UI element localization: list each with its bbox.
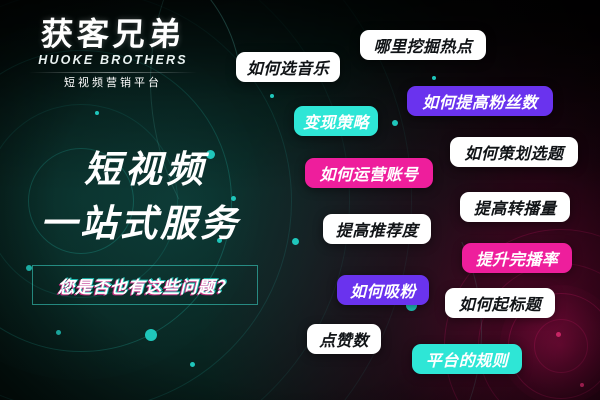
brand-name-en: HUOKE BROTHERS [28, 54, 198, 67]
tag-8[interactable]: 提高推荐度 [323, 214, 431, 244]
tag-label: 如何运营账号 [319, 161, 418, 185]
tag-2[interactable]: 哪里挖掘热点 [360, 30, 486, 60]
tag-6[interactable]: 如何运营账号 [305, 158, 433, 188]
tag-label: 如何起标题 [459, 291, 542, 315]
tag-3[interactable]: 如何提高粉丝数 [407, 86, 553, 116]
brand-name-cn: 获客兄弟 [27, 18, 199, 50]
tag-11[interactable]: 如何起标题 [445, 288, 555, 318]
tag-label: 如何吸粉 [350, 278, 416, 302]
tag-label: 平台的规则 [426, 347, 509, 371]
question-text: 您是否也有这些问题？ [58, 273, 233, 298]
headline-line-2: 一站式服务 [40, 204, 290, 243]
tag-4[interactable]: 变现策略 [294, 106, 378, 136]
tag-label: 提高转播量 [474, 195, 557, 219]
tag-12[interactable]: 点赞数 [307, 324, 381, 354]
tag-label: 提升完播率 [476, 246, 559, 270]
headline-line-1: 短视频 [84, 150, 290, 189]
tag-9[interactable]: 提升完播率 [462, 243, 572, 273]
tag-label: 哪里挖掘热点 [373, 33, 472, 57]
tag-13[interactable]: 平台的规则 [412, 344, 522, 374]
tag-label: 如何选音乐 [247, 55, 330, 79]
brand-logo: 获客兄弟 HUOKE BROTHERS 短视频营销平台 [28, 18, 198, 88]
tag-1[interactable]: 如何选音乐 [236, 52, 340, 82]
tag-7[interactable]: 提高转播量 [460, 192, 570, 222]
tag-label: 如何策划选题 [464, 140, 563, 164]
logo-divider [29, 72, 197, 73]
tag-10[interactable]: 如何吸粉 [337, 275, 429, 305]
brand-tagline: 短视频营销平台 [28, 77, 198, 88]
tag-label: 变现策略 [303, 109, 369, 133]
headline-block: 短视频 一站式服务 [40, 150, 290, 243]
tag-label: 提高推荐度 [336, 217, 419, 241]
promo-banner: 获客兄弟 HUOKE BROTHERS 短视频营销平台 短视频 一站式服务 您是… [0, 0, 600, 400]
tag-label: 如何提高粉丝数 [422, 89, 538, 113]
tag-label: 点赞数 [319, 327, 369, 351]
tag-5[interactable]: 如何策划选题 [450, 137, 578, 167]
question-box: 您是否也有这些问题？ [32, 265, 258, 305]
